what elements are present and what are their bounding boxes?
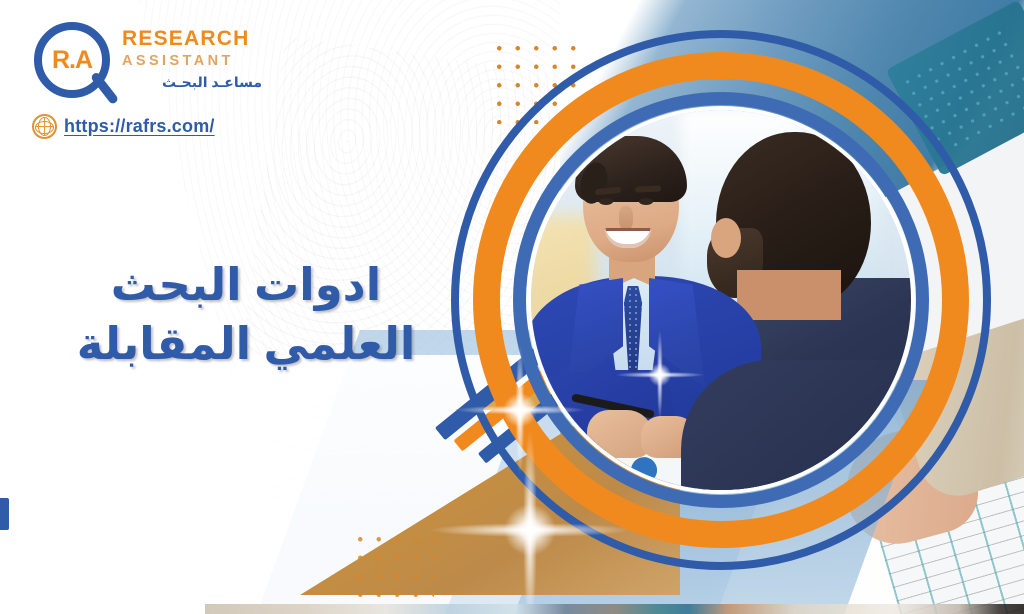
website-url-text[interactable]: https://rafrs.com/ <box>64 116 215 137</box>
circular-photo-frame <box>451 30 991 570</box>
interviewer-eye-right <box>639 198 653 205</box>
headline-line-1: ادوات البحث <box>60 255 432 314</box>
brand-name-line1: RESEARCH <box>122 28 292 49</box>
website-link[interactable]: https://rafrs.com/ <box>32 114 215 139</box>
bottom-photo-strip <box>205 604 1024 614</box>
brand-logo[interactable]: R.A RESEARCH ASSISTANT مساعـد البحـث htt… <box>18 22 288 132</box>
magnifier-icon: R.A <box>34 22 120 114</box>
globe-icon <box>32 114 57 139</box>
brand-name-arabic: مساعـد البحـث <box>122 75 262 89</box>
page-title: ادوات البحث العلمي المقابلة <box>60 255 432 374</box>
interviewer-nose <box>619 206 633 230</box>
dot-grid-bottom <box>348 527 434 607</box>
interviewee-ear <box>711 218 741 258</box>
brand-name-line2: ASSISTANT <box>122 54 292 69</box>
interview-photo <box>531 110 911 490</box>
logo-initials: R.A <box>34 22 110 98</box>
interviewee-shoulder <box>681 360 911 490</box>
banner-canvas: R.A RESEARCH ASSISTANT مساعـد البحـث htt… <box>0 0 1024 614</box>
left-edge-tab <box>0 498 9 530</box>
interviewer-eye-left <box>599 198 613 205</box>
interviewee-neck <box>737 270 841 320</box>
headline-line-2: العلمي المقابلة <box>60 314 432 373</box>
brand-wordmark: RESEARCH ASSISTANT مساعـد البحـث <box>122 28 292 89</box>
